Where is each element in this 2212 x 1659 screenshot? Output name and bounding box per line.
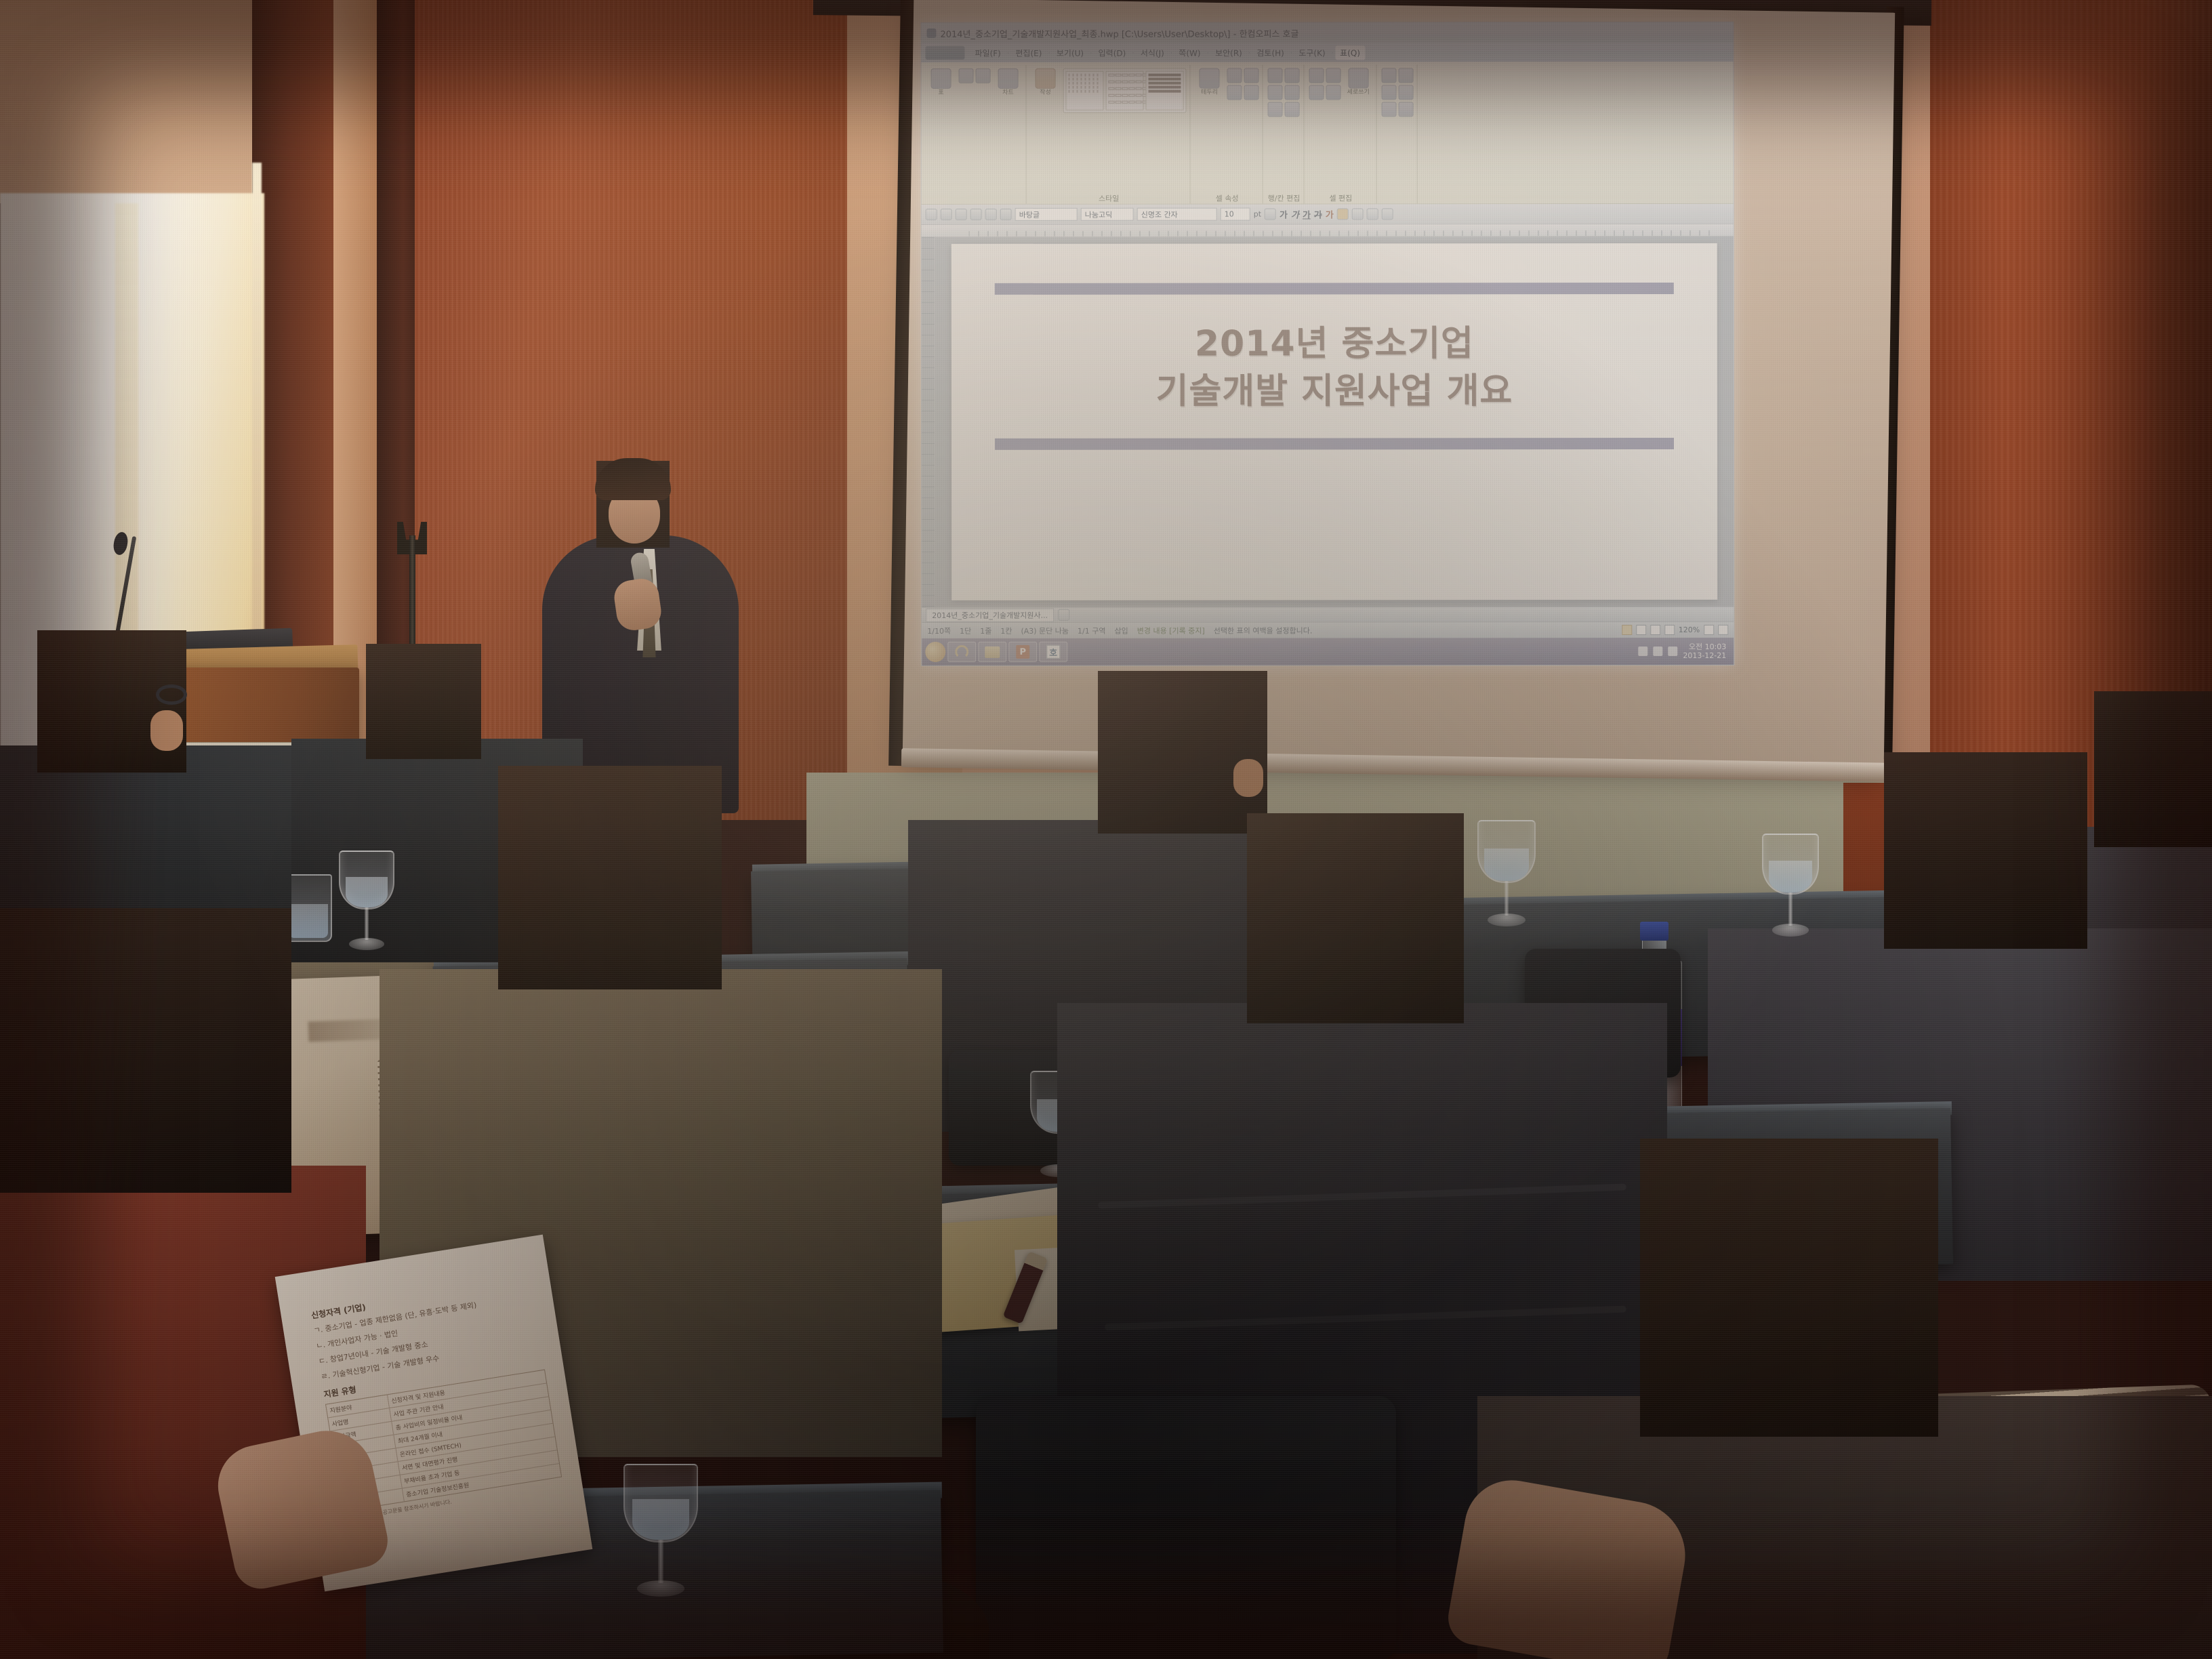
taskbar-item-explorer[interactable] (978, 642, 1006, 662)
style-swatch[interactable] (1066, 71, 1104, 110)
align-top-icon (1381, 68, 1396, 83)
save-icon[interactable] (956, 209, 967, 220)
taskbar-item-ie[interactable] (947, 642, 976, 662)
cell-split-icon (1309, 68, 1324, 83)
align-bottom-icon (1381, 85, 1396, 100)
window-title: 2014년_중소기업_기술개발지원사업_최종.hwp [C:\Users\Use… (940, 26, 1298, 39)
start-button[interactable] (925, 642, 945, 662)
menu-item-tools[interactable]: 도구(K) (1294, 45, 1330, 60)
fill-icon (1244, 68, 1259, 83)
wine-glass (1762, 834, 1819, 939)
align-middle-icon (1398, 68, 1413, 83)
shape-icon (976, 68, 991, 83)
horizontal-ruler[interactable] (922, 224, 1734, 237)
glass-water (632, 1499, 689, 1540)
document-title: 2014년 중소기업 기술개발 지원사업 개요 (995, 297, 1674, 436)
zoom-level[interactable]: 120% (1679, 626, 1700, 634)
attendee-head (1098, 671, 1267, 834)
menu-item-table[interactable]: 표(Q) (1335, 45, 1365, 60)
hwp-format-bar: 바탕글 나눔고딕 신명조 간자 10 pt 가 가 가 가 가 (922, 204, 1734, 225)
table-style-gallery[interactable] (1063, 68, 1187, 113)
menu-item-input[interactable]: 입력(D) (1094, 45, 1131, 60)
status-page: 1/10쪽 (927, 625, 951, 636)
ribbon-button-chart[interactable]: 차트 (994, 68, 1023, 96)
ribbon-small-buttons[interactable] (1309, 68, 1340, 100)
glass-stem (1504, 881, 1509, 916)
chair (976, 1396, 1396, 1659)
folder-icon (985, 646, 1000, 657)
close-tab-icon[interactable] (1058, 609, 1069, 621)
cell-height-icon (1309, 85, 1324, 100)
new-doc-icon[interactable] (926, 209, 937, 220)
view-fit-width-icon[interactable] (1650, 625, 1660, 635)
glass-foot (1772, 924, 1809, 937)
ribbon-group-row-col: 행/칸 편집 (1265, 64, 1305, 203)
menu-divider: · (1207, 48, 1210, 57)
menu-divider: · (1248, 48, 1251, 57)
highlight-icon[interactable] (1337, 208, 1349, 220)
water-tumbler (285, 874, 332, 942)
vertical-text-icon (1348, 68, 1368, 88)
menu-divider: · (1332, 48, 1334, 57)
pencil-icon (1227, 68, 1242, 83)
document-title-line-2: 기술개발 지원사업 개요 (995, 367, 1674, 415)
menu-item-review[interactable]: 검토(H) (1252, 45, 1288, 60)
split-cells-icon (1285, 85, 1300, 100)
flag-icon[interactable] (1638, 647, 1647, 656)
style-swatch[interactable] (1106, 71, 1144, 110)
hwp-title-bar: 2014년_중소기업_기술개발지원사업_최종.hwp [C:\Users\Use… (921, 22, 1733, 43)
volume-icon[interactable] (1668, 647, 1677, 656)
status-paper: (A3) 문단 나눔 (1021, 625, 1069, 636)
menu-divider: · (1132, 48, 1134, 57)
clock-time: 오전 10:03 (1689, 642, 1726, 651)
attendee-head (1884, 752, 2087, 949)
glass-foot (1488, 914, 1525, 926)
ribbon-group-label: 스타일 (1099, 192, 1119, 204)
delete-col-icon (1285, 102, 1300, 117)
menu-divider: · (1090, 48, 1092, 57)
align-center-icon[interactable] (1367, 208, 1378, 220)
menu-item-view[interactable]: 보기(U) (1052, 45, 1088, 60)
network-icon[interactable] (1653, 647, 1662, 656)
zoom-in-icon[interactable] (1718, 625, 1728, 635)
ribbon-button-border[interactable]: 테두리 (1195, 68, 1224, 96)
align-center-icon (1381, 102, 1396, 117)
page-scroll-area[interactable]: 2014년 중소기업 기술개발 지원사업 개요 (935, 237, 1734, 607)
open-icon[interactable] (941, 209, 952, 220)
undo-icon[interactable] (985, 209, 997, 220)
status-insert-mode[interactable]: 삽입 (1114, 625, 1128, 636)
menu-item-format[interactable]: 서식(J) (1136, 45, 1169, 60)
wine-glass (623, 1464, 698, 1599)
merge-cells-icon (1285, 68, 1300, 83)
hancom-logo (925, 46, 964, 60)
glass-stem (1788, 893, 1793, 926)
vertical-ruler[interactable] (922, 237, 935, 607)
attendee-head (366, 644, 481, 759)
clock-date: 2013-12-21 (1683, 651, 1726, 660)
hwp-document-area: 2014년 중소기업 기술개발 지원사업 개요 (922, 237, 1734, 607)
style-swatch[interactable] (1146, 71, 1184, 110)
menu-item-security[interactable]: 보안(R) (1210, 45, 1247, 60)
ribbon-group-label: 셀 속성 (1216, 192, 1239, 204)
paragraph-style-select[interactable]: 바탕글 (1015, 208, 1078, 221)
delete-row-icon (1268, 85, 1283, 100)
glass-water (1484, 848, 1528, 881)
glass-foot (637, 1580, 684, 1597)
chart-large-icon (998, 68, 1019, 89)
menu-item-edit[interactable]: 편집(E) (1010, 45, 1046, 60)
cell-merge-icon (1326, 68, 1340, 83)
ribbon-group-cell-edit: 세로쓰기 셀 편집 (1305, 64, 1376, 203)
menu-divider: · (1007, 48, 1010, 57)
powerpoint-icon: P (1016, 645, 1029, 659)
align-right-icon[interactable] (1382, 208, 1393, 220)
hwp-status-bar: 1/10쪽 1단 1줄 1칸 (A3) 문단 나눔 1/1 구역 삽입 변경 내… (922, 621, 1734, 638)
attendee-head (498, 766, 722, 989)
title-bar-bottom-decoration (995, 438, 1674, 450)
windows-taskbar: P 호 오전 10:03 2013-12-21 (922, 638, 1734, 665)
attendee-head (1640, 1139, 1938, 1437)
font-size-select[interactable]: 10 (1221, 208, 1250, 221)
ribbon-group-style: 작성 (1028, 65, 1191, 204)
glass-stem (658, 1540, 664, 1583)
menu-item-page[interactable]: 쪽(W) (1174, 45, 1205, 60)
align-left-icon[interactable] (1352, 208, 1364, 220)
glass-stem (365, 907, 369, 940)
cell-width-icon (1326, 85, 1340, 100)
hwp-ribbon: 표 차트 (922, 62, 1734, 205)
bold-button[interactable]: 가 (1279, 207, 1288, 220)
style-icon (1036, 68, 1056, 89)
ribbon-button-vertical-text[interactable]: 세로쓰기 (1344, 68, 1372, 96)
table-icon (931, 68, 951, 89)
status-line: 1줄 (980, 625, 991, 636)
font-size-unit: pt (1254, 210, 1261, 219)
status-column: 1단 (960, 625, 971, 636)
system-tray: 오전 10:03 2013-12-21 (1638, 642, 1730, 660)
font-color-button[interactable]: 가 (1326, 207, 1334, 220)
ribbon-group-insert: 표 차트 (924, 65, 1027, 204)
document-tab[interactable]: 2014년_중소기업_기술개발지원사... (926, 608, 1054, 621)
insert-row-icon (1268, 68, 1283, 83)
ribbon-group-label: 셀 편집 (1329, 191, 1352, 203)
ribbon-group-cell-attrs: 테두리 셀 속성 (1192, 65, 1263, 204)
glass-foot (349, 938, 384, 950)
insert-col-icon (1268, 102, 1283, 117)
ribbon-group-layout (1378, 64, 1417, 203)
tray-clock[interactable]: 오전 10:03 2013-12-21 (1683, 642, 1726, 660)
attendee-head (2094, 691, 2212, 847)
redo-icon[interactable] (1000, 209, 1012, 220)
view-facing-pages-icon[interactable] (1636, 625, 1646, 635)
grid-icon (1244, 85, 1259, 100)
menu-divider: · (1048, 48, 1050, 57)
ribbon-small-buttons[interactable] (959, 68, 991, 83)
ribbon-group-label: 행/칸 편집 (1268, 191, 1300, 203)
status-region: 1/1 구역 (1078, 625, 1105, 636)
search-icon[interactable] (1664, 625, 1675, 635)
status-track-changes[interactable]: 변경 내용 [기록 중지] (1137, 625, 1205, 636)
font-face-select[interactable]: 나눔고딕 (1081, 208, 1134, 221)
ribbon-small-buttons[interactable] (1227, 68, 1259, 100)
document-title-line-1: 2014년 중소기업 (995, 320, 1674, 368)
internet-explorer-icon (955, 645, 968, 659)
eyeglasses (156, 684, 187, 705)
glass-water (1769, 861, 1812, 893)
status-view-controls: 120% (1622, 625, 1728, 635)
align-left-icon (1398, 85, 1413, 100)
projection-screen: 2014년_중소기업_기술개발지원사업_최종.hwp [C:\Users\Use… (903, 0, 1895, 771)
attendee-ear (1233, 759, 1263, 797)
table-grid-preview (1109, 74, 1141, 107)
attendee-head (0, 908, 291, 1193)
menu-item-file[interactable]: 파일(F) (970, 45, 1005, 60)
underline-button[interactable]: 가 (1303, 207, 1311, 220)
bottle-cap (1640, 922, 1669, 941)
status-hint: 선택한 표의 여백을 설정합니다. (1214, 625, 1313, 636)
wine-glass (1477, 820, 1536, 928)
font-variant-select[interactable]: 신명조 간자 (1137, 208, 1217, 221)
print-icon[interactable] (970, 209, 982, 220)
status-char: 1칸 (1000, 625, 1012, 636)
wine-glass (339, 851, 394, 952)
ribbon-small-buttons[interactable] (1268, 68, 1300, 117)
glass-water (346, 877, 388, 907)
document-tab-bar: 2014년_중소기업_기술개발지원사... (922, 607, 1734, 622)
italic-button[interactable]: 가 (1291, 207, 1299, 220)
line-spacing-icon[interactable] (1265, 209, 1276, 220)
strikethrough-button[interactable]: 가 (1314, 207, 1322, 220)
ribbon-small-buttons[interactable] (1381, 68, 1413, 117)
app-icon (926, 28, 936, 38)
ribbon-button-style-apply[interactable]: 작성 (1031, 68, 1060, 96)
ribbon-button-table[interactable]: 표 (927, 68, 956, 96)
zoom-out-icon[interactable] (1704, 625, 1714, 635)
projected-hwp-window: 2014년_중소기업_기술개발지원사업_최종.hwp [C:\Users\Use… (920, 22, 1734, 666)
hangul-icon: 호 (1046, 645, 1060, 659)
hwp-menu-bar: 파일(F)· 편집(E)· 보기(U)· 입력(D)· 서식(J)· 쪽(W)·… (921, 43, 1733, 62)
align-right-icon (1398, 102, 1413, 117)
chart-icon (959, 68, 974, 83)
taskbar-item-powerpoint[interactable]: P (1008, 642, 1037, 662)
menu-divider: · (1290, 48, 1293, 57)
view-single-page-icon[interactable] (1622, 625, 1632, 635)
attendee-head (1247, 813, 1464, 1023)
taskbar-item-hangul[interactable]: 호 (1039, 642, 1067, 662)
shading-icon (1227, 85, 1242, 100)
document-page[interactable]: 2014년 중소기업 기술개발 지원사업 개요 (951, 243, 1717, 600)
title-bar-top-decoration (995, 283, 1674, 295)
menu-divider: · (1170, 48, 1173, 57)
border-icon (1200, 68, 1220, 89)
attendee-ear (150, 710, 183, 751)
seminar-room-photo: 2014년_중소기업_기술개발지원사업_최종.hwp [C:\Users\Use… (0, 0, 2212, 1659)
